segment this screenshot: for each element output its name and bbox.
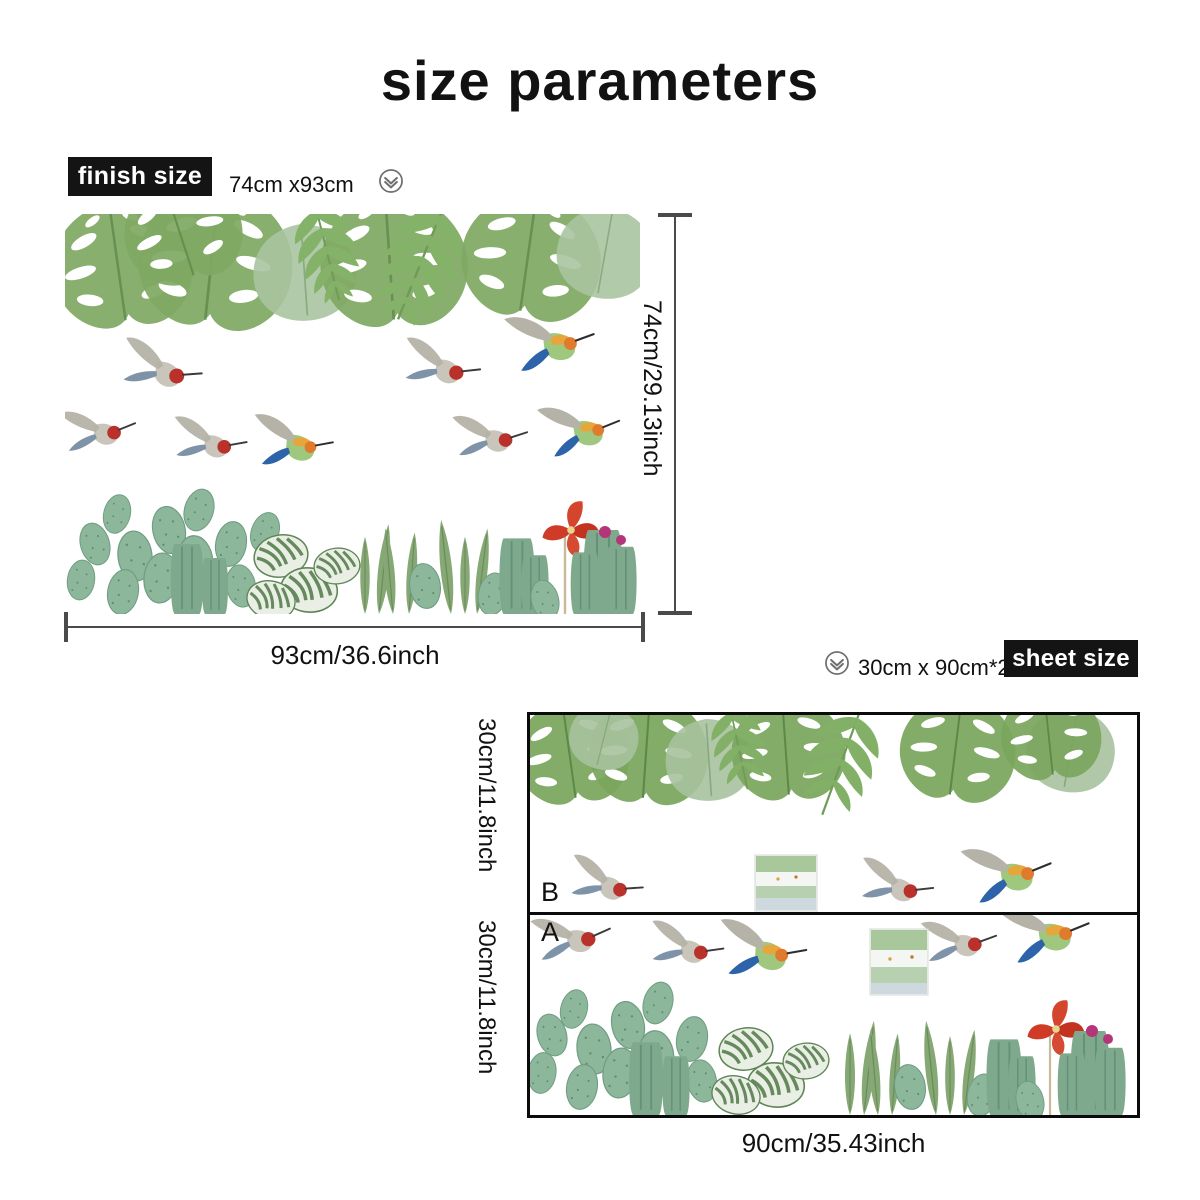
finish-width-cap-left (64, 612, 68, 642)
panel-a-artwork (530, 915, 1137, 1115)
finish-height-cap-top (658, 213, 692, 217)
sheet-panel-a-letter: A (541, 917, 559, 948)
sheet-size-badge: sheet size (1004, 640, 1138, 677)
page-title: size parameters (0, 52, 1200, 111)
finish-height-cap-bottom (658, 611, 692, 615)
chevron-double-down-circle-icon (378, 168, 404, 194)
finish-width-dimension-line (65, 626, 645, 628)
sheet-panel-b-height-label: 30cm/11.8inch (472, 718, 500, 872)
finish-size-artwork (65, 214, 640, 614)
finish-width-label: 93cm/36.6inch (0, 640, 710, 671)
finish-size-value: 74cm x93cm (229, 172, 354, 198)
sheet-size-value: 30cm x 90cm*2 (858, 655, 1010, 681)
sheet-width-label: 90cm/35.43inch (527, 1128, 1140, 1159)
sheet-panel-b: B (530, 715, 1137, 915)
chevron-double-down-circle-icon (824, 650, 850, 676)
panel-b-preview-thumbnail (755, 855, 817, 911)
panel-a-preview-thumbnail (870, 929, 928, 995)
sheet-panel-a: A (530, 915, 1137, 1115)
finish-size-badge: finish size (68, 157, 212, 196)
finish-height-dimension-line (674, 214, 676, 614)
panel-b-artwork (530, 715, 1137, 912)
sheet-size-diagram: B (527, 712, 1140, 1118)
sheet-panel-a-height-label: 30cm/11.8inch (472, 920, 500, 1074)
finish-height-label: 74cm/29.13inch (637, 300, 666, 477)
sheet-panel-b-letter: B (541, 877, 559, 908)
finish-width-cap-right (641, 612, 645, 642)
